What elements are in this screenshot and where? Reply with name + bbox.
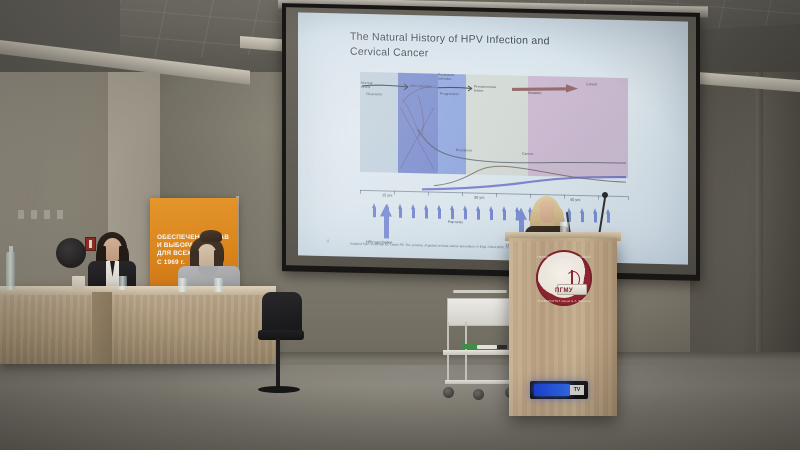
diagram-label-normal-cervix: Normalcervix: [361, 81, 383, 90]
wall-marks: [18, 210, 68, 219]
emblem-abbrev: ПГМУ: [536, 288, 592, 294]
pap-tests-label: Pap tests: [448, 220, 463, 224]
drinking-glass-mid: [178, 278, 187, 292]
trolley-handle: [453, 290, 507, 293]
diagram-label-progression: Progression: [440, 92, 459, 97]
slide-page-number: 11: [326, 239, 330, 243]
conference-chair-seat: [258, 330, 304, 340]
floor-reflection: [180, 365, 700, 445]
paper-cup: [72, 276, 85, 290]
table-grain: [0, 295, 276, 364]
diagram-label-cancer: Cancer: [586, 82, 598, 86]
axis-tick-15yrs: 15 yrs: [382, 193, 392, 197]
trolley-shelf-lower: [445, 380, 515, 384]
axis-tick-30yrs: 30 yrs: [474, 196, 484, 200]
exit-sign: [85, 237, 96, 251]
nameplate-text: TV: [570, 385, 584, 395]
curve-label-precancer: Precancer: [456, 148, 472, 153]
slide-title: The Natural History of HPV Infection and…: [350, 30, 650, 67]
podium-nameplate: TV: [530, 381, 588, 399]
trolley-shelf-upper: [443, 350, 517, 355]
trolley-wheel-left: [443, 387, 454, 398]
diagram-label-precancerous: Precancerouslesion: [474, 85, 502, 94]
curve-label-cancer: Cancer: [522, 152, 534, 157]
diagram-label-persistent: Persistentinfection: [438, 73, 468, 83]
table-top-surface: [0, 286, 276, 295]
microphone-head: [602, 192, 608, 198]
emblem-bottom-text: УНИВЕРСИТЕТ имени Е.А. Вагнера: [536, 299, 592, 303]
trolley-item-green: [461, 344, 477, 349]
trolley-top-box: [447, 298, 515, 326]
projected-slide: The Natural History of HPV Infection and…: [298, 12, 688, 264]
axis-tick-45yrs: 45 yrs: [570, 198, 580, 202]
banner-dark-circle: [56, 238, 86, 268]
hpv-vaccination-arrow: [380, 204, 393, 238]
conference-chair-base: [258, 386, 300, 393]
trolley-item-white: [477, 345, 497, 349]
conference-chair-post: [276, 338, 280, 390]
trolley-item-dark: [497, 345, 507, 349]
water-bottle: [6, 252, 15, 290]
university-emblem: ПЕРМСКИЙ ГОСУДАРСТВЕННЫЙ МЕДИЦИНСКИЙ ПГМ…: [536, 250, 592, 306]
diagram-label-invasion: Invasion: [528, 91, 541, 95]
diagram-label-hpv-infection: HPV infection: [410, 84, 438, 89]
table-leg: [92, 292, 112, 364]
diagram-label-clearance: Clearance: [366, 92, 382, 97]
drinking-glass-left: [118, 276, 127, 290]
drinking-glass-right: [214, 278, 223, 292]
conference-room-photo: The Natural History of HPV Infection and…: [0, 0, 800, 450]
trolley-wheel-mid: [473, 389, 484, 400]
hpv-natural-history-diagram: Normalcervix Clearance HPV infection Per…: [360, 72, 628, 208]
invasion-arrow: [510, 81, 582, 97]
